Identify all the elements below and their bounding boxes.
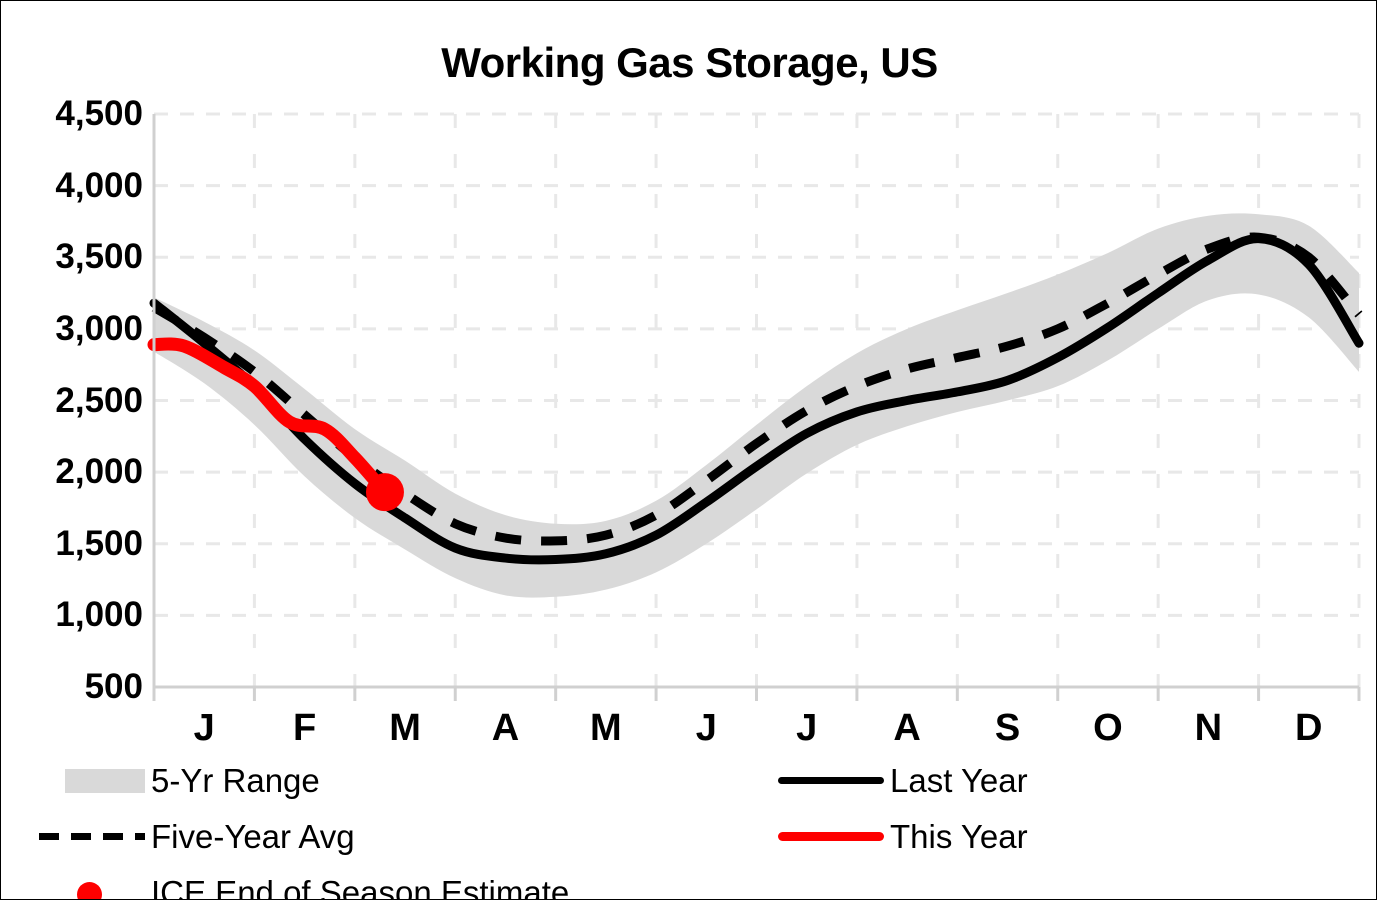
chart-figure: Working Gas Storage, US 4,5004,0003,5003… [0, 0, 1377, 900]
legend-item-ice-estimate[interactable]: ICE End of Season Estimate [37, 873, 569, 900]
gridlines [154, 114, 1359, 687]
legend-label-5yr-range: 5-Yr Range [151, 762, 320, 800]
legend-item-last-year[interactable]: Last Year [776, 761, 1028, 801]
legend-item-this-year[interactable]: This Year [776, 817, 1028, 857]
dashed-line-icon [37, 817, 145, 857]
red-line-icon [776, 817, 884, 857]
legend-label-five-year-avg: Five-Year Avg [151, 818, 355, 856]
legend-label-last-year: Last Year [890, 762, 1028, 800]
range-swatch-icon [37, 761, 145, 801]
chart-legend: 5-Yr Range Five-Year Avg ICE End of Seas… [1, 757, 1377, 899]
red-dot-icon [37, 873, 145, 900]
legend-label-this-year: This Year [890, 818, 1028, 856]
legend-label-ice-estimate: ICE End of Season Estimate [151, 874, 569, 900]
legend-item-five-year-avg[interactable]: Five-Year Avg [37, 817, 355, 857]
black-line-icon [776, 761, 884, 801]
ice-end-of-season-marker [366, 473, 404, 511]
legend-item-5yr-range[interactable]: 5-Yr Range [37, 761, 320, 801]
